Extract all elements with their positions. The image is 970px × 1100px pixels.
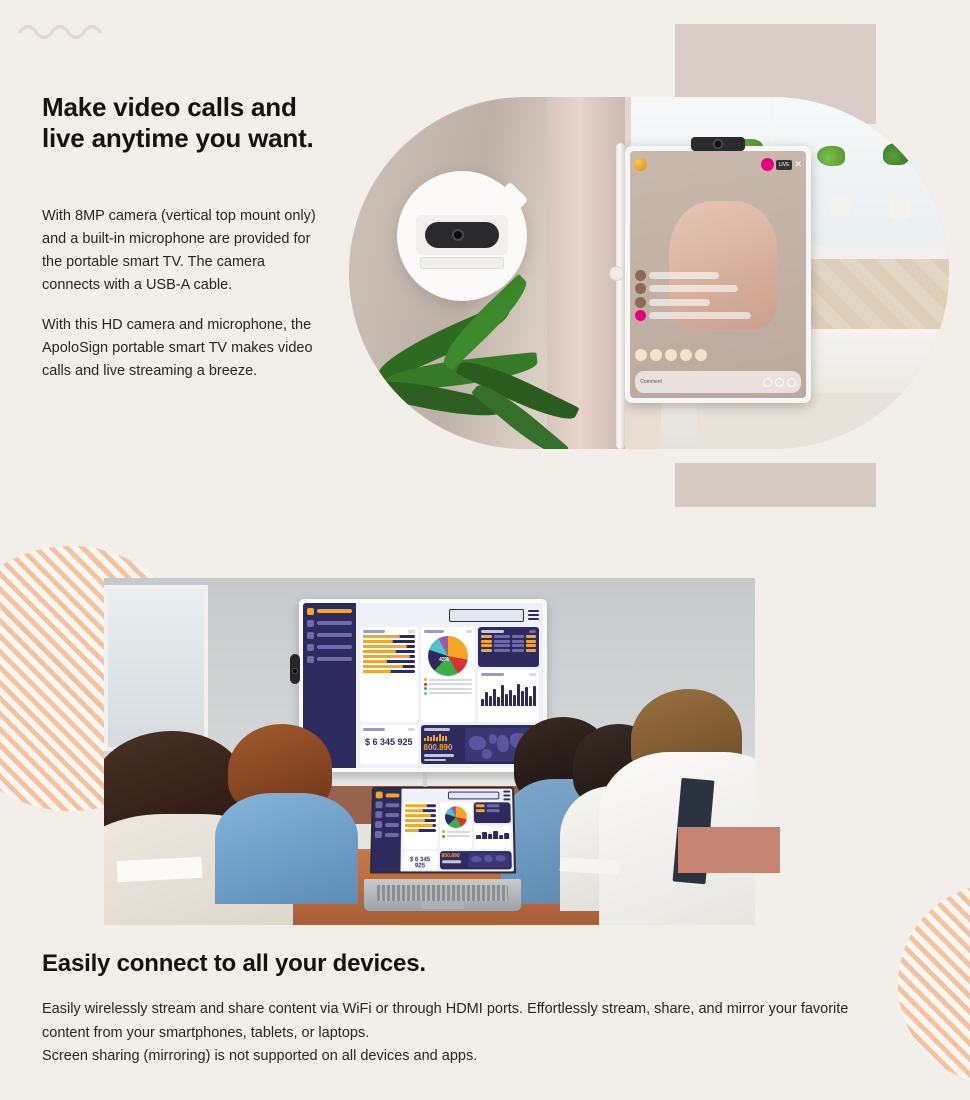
tv-screen[interactable]: LIVE ✕ [630,151,806,398]
streamer-avatar [634,158,647,171]
comment-input[interactable]: Comment [635,371,800,393]
close-icon[interactable]: ✕ [794,160,802,169]
live-stream-header: LIVE ✕ [630,151,806,178]
connect-paragraph-1: Easily wirelessly stream and share conte… [42,998,862,1045]
laptop-dashboard-mirror: $ 6 345 925 800.890 [372,789,514,872]
product-feature-page: Make video calls and live anytime you wa… [0,0,970,1100]
plant-foliage-2 [817,146,845,166]
mini-bar-chart [424,733,462,740]
clip-on-webcam-icon [290,654,300,684]
laptop[interactable]: $ 6 345 925 800.890 [364,786,520,911]
reaction-icon[interactable] [680,349,692,361]
card-daily-current [360,627,418,722]
webcam-body-icon [425,222,499,248]
activity-bar-chart [481,678,535,706]
filter-icon[interactable] [775,378,784,387]
portable-smart-tv[interactable]: LIVE ✕ [625,146,811,403]
live-badge: LIVE ✕ [761,158,802,171]
card-total-earnings: $ 6 345 925 [360,725,418,764]
heart-icon[interactable] [787,378,796,387]
world-activity-value: 800.890 [424,743,462,752]
sidebar-item-inbox[interactable] [307,632,352,639]
dashboard-toolbar [360,607,539,624]
laptop-total-earnings: $ 6 345 925 [404,853,435,869]
conference-window [104,585,208,752]
reaction-icon[interactable] [650,349,662,361]
gear-icon [307,656,314,663]
live-comments-list [635,270,762,334]
decorative-block-terracotta [678,827,780,873]
connect-heading: Easily connect to all your devices. [42,950,742,978]
tv-floor-stand [616,143,625,449]
dashboard-main: 42% [356,603,543,769]
right-column [478,627,538,722]
list-item [635,283,762,294]
striped-circle-right [898,884,970,1084]
connect-image: 42% [104,578,755,925]
live-label: LIVE [776,160,793,170]
hero-paragraph-2: With this HD camera and microphone, the … [42,314,320,383]
reaction-icon[interactable] [665,349,677,361]
foreground-fern [355,273,631,449]
person-redhead-body [215,793,358,904]
search-input[interactable] [449,609,524,623]
send-icon[interactable] [763,378,772,387]
home-icon [307,608,314,615]
pie-label: 42% [439,657,449,663]
reaction-icon[interactable] [635,349,647,361]
hero-image: LIVE ✕ [349,97,949,449]
webcam-clip [420,257,504,269]
list-item [635,297,762,308]
laptop-keyboard[interactable] [377,885,508,902]
clip-on-webcam-icon [691,137,745,151]
bell-icon [307,644,314,651]
laptop-base [364,879,520,911]
reaction-icon[interactable] [695,349,707,361]
inbox-icon [307,632,314,639]
sidebar-item-statistics[interactable] [307,620,352,627]
comment-placeholder: Comment [640,379,662,385]
dashboard-screen[interactable]: 42% [303,603,542,769]
hero-body: With 8MP camera (vertical top mount only… [42,205,320,383]
sidebar-item-dashboard[interactable] [307,608,352,615]
reaction-bar[interactable] [635,341,800,368]
wave-squiggle-icon [18,18,118,44]
window-frame [631,97,949,101]
sidebar-item-settings[interactable] [307,656,352,663]
portable-smart-tv[interactable]: 42% [299,599,546,773]
list-item [635,310,762,321]
plant-pot-white-1 [829,196,851,216]
connect-paragraph-2: Screen sharing (mirroring) is not suppor… [42,1045,862,1069]
laptop-world-activity: 800.890 [441,853,465,859]
webcam-callout-bubble [397,171,527,301]
plant-pot-white-2 [889,199,911,218]
card-last-sales [478,627,538,667]
card-monthly-investment: 42% [421,627,476,722]
pie-chart: 42% [428,636,468,676]
card-activity [478,670,538,722]
dashboard-cards: 42% [360,627,539,764]
laptop-trackpad[interactable] [421,901,465,908]
live-indicator-icon [761,158,774,171]
laptop-screen[interactable]: $ 6 345 925 800.890 [370,787,516,874]
hero-heading: Make video calls and live anytime you wa… [42,92,332,154]
decorative-block-middle [675,463,876,507]
connect-body: Easily wirelessly stream and share conte… [42,998,862,1069]
pie-legend [424,678,473,695]
hero-paragraph-1: With 8MP camera (vertical top mount only… [42,205,320,297]
total-earnings-value: $ 6 345 925 [363,733,415,747]
plant-foliage-3 [883,143,909,165]
sidebar-item-notifications[interactable] [307,644,352,651]
chart-icon [307,620,314,627]
menu-icon[interactable] [528,610,539,620]
list-item [635,270,762,281]
